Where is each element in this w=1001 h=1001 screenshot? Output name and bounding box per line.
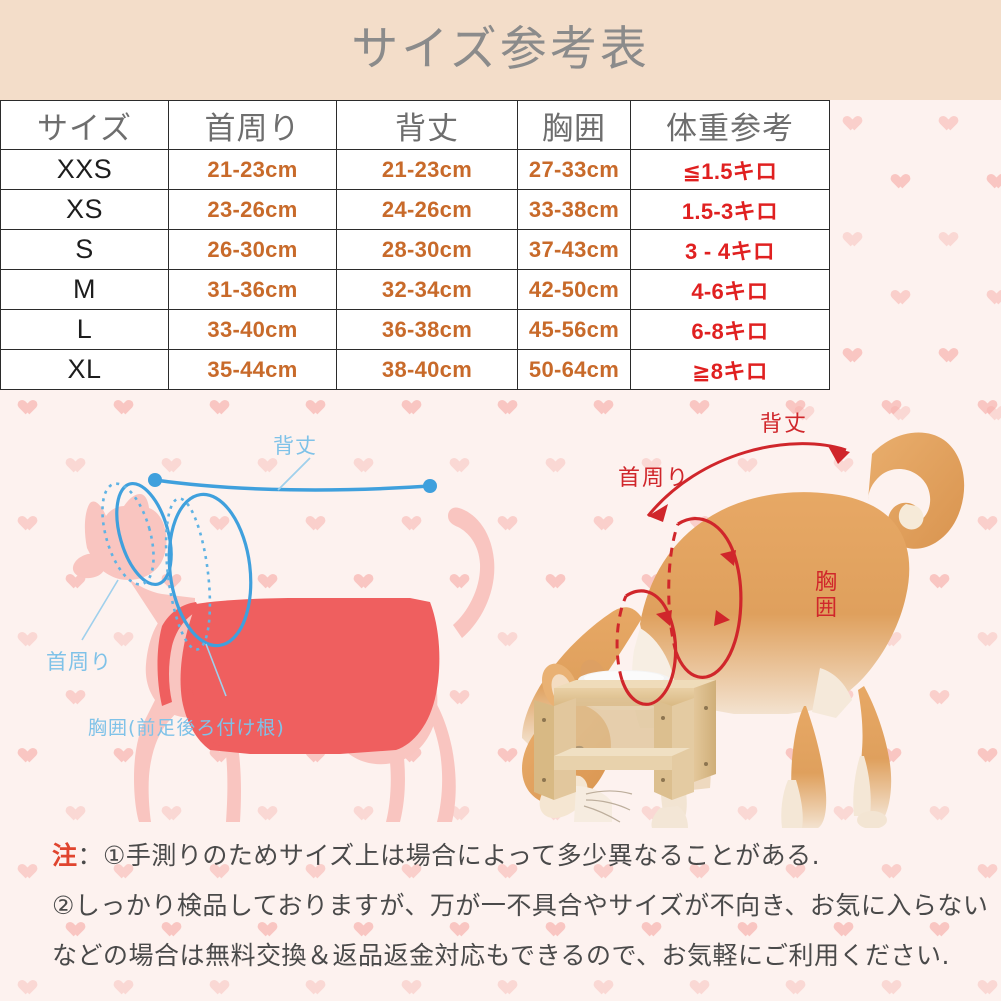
cell-neck: 33-40cm xyxy=(169,310,337,350)
cell-weight: 3 - 4キロ xyxy=(631,230,830,270)
cell-chest: 50-64cm xyxy=(518,350,631,390)
table-row: XXS21-23cm21-23cm27-33cm≦1.5キロ xyxy=(1,150,830,190)
dog-label-chest: 胸囲 xyxy=(815,570,839,622)
heart-icon xyxy=(887,168,904,183)
table-row: XL35-44cm38-40cm50-64cm≧8キロ xyxy=(1,350,830,390)
cat-measurement-diagram: 背丈 首周り 胸囲(前足後ろ付け根) xyxy=(10,388,540,828)
cell-neck: 35-44cm xyxy=(169,350,337,390)
page-title: サイズ参考表 xyxy=(0,22,1001,78)
cell-chest: 27-33cm xyxy=(518,150,631,190)
cell-weight: 6-8キロ xyxy=(631,310,830,350)
cell-size: S xyxy=(1,230,169,270)
table-row: L33-40cm36-38cm45-56cm6-8キロ xyxy=(1,310,830,350)
cell-back: 21-23cm xyxy=(337,150,518,190)
notes-section: 注：①手測りのためサイズ上は場合によって多少異なることがある. ②しっかり検品し… xyxy=(0,828,1001,1001)
cell-weight: ≧8キロ xyxy=(631,350,830,390)
cell-weight: 4-6キロ xyxy=(631,270,830,310)
cell-size: M xyxy=(1,270,169,310)
cat-back-start-dot xyxy=(148,473,162,487)
cell-neck: 26-30cm xyxy=(169,230,337,270)
cell-size: XS xyxy=(1,190,169,230)
cell-neck: 31-36cm xyxy=(169,270,337,310)
product-size-chart-page: サイズ参考表 サイズ 首周り 背丈 胸囲 体重参考 XXS21-23cm21-2… xyxy=(0,0,1001,1001)
cell-back: 24-26cm xyxy=(337,190,518,230)
title-band: サイズ参考表 xyxy=(0,0,1001,100)
heart-grid-right xyxy=(829,100,1001,388)
column-header-size: サイズ xyxy=(1,101,169,150)
cell-weight: ≦1.5キロ xyxy=(631,150,830,190)
table-row: M31-36cm32-34cm42-50cm4-6キロ xyxy=(1,270,830,310)
cell-chest: 42-50cm xyxy=(518,270,631,310)
table-row: S26-30cm28-30cm37-43cm3 - 4キロ xyxy=(1,230,830,270)
cell-neck: 21-23cm xyxy=(169,150,337,190)
cell-back: 28-30cm xyxy=(337,230,518,270)
cell-chest: 33-38cm xyxy=(518,190,631,230)
heart-icon xyxy=(935,110,952,125)
cell-chest: 45-56cm xyxy=(518,310,631,350)
size-table-container: サイズ 首周り 背丈 胸囲 体重参考 XXS21-23cm21-23cm27-3… xyxy=(0,100,829,388)
cat-back-length-annotation xyxy=(155,480,430,490)
cell-size: XL xyxy=(1,350,169,390)
cell-size: XXS xyxy=(1,150,169,190)
table-row: XS23-26cm24-26cm33-38cm1.5-3キロ xyxy=(1,190,830,230)
size-reference-table: サイズ 首周り 背丈 胸囲 体重参考 XXS21-23cm21-23cm27-3… xyxy=(0,100,830,390)
illustration-band: 背丈 首周り 胸囲(前足後ろ付け根) xyxy=(0,388,1001,828)
heart-icon xyxy=(983,168,1000,183)
note-mark: 注 xyxy=(52,841,78,870)
heart-pattern-background-right xyxy=(829,100,1001,388)
column-header-neck: 首周り xyxy=(169,101,337,150)
cell-chest: 37-43cm xyxy=(518,230,631,270)
column-header-weight: 体重参考 xyxy=(631,101,830,150)
dog-measurement-photo: 背丈 首周り 胸囲 xyxy=(520,388,1001,828)
note-line-3: などの場合は無料交換＆返品返金対応もできるので、お気軽にご利用ください. xyxy=(52,936,950,972)
heart-icon xyxy=(839,226,856,241)
cat-back-leader xyxy=(278,458,310,490)
cell-back: 38-40cm xyxy=(337,350,518,390)
cat-back-end-dot xyxy=(423,479,437,493)
dog-label-back-length: 背丈 xyxy=(760,406,808,438)
dog-photo-svg xyxy=(520,388,1001,828)
size-table-body: XXS21-23cm21-23cm27-33cm≦1.5キロXS23-26cm2… xyxy=(1,150,830,390)
table-header-row: サイズ 首周り 背丈 胸囲 体重参考 xyxy=(1,101,830,150)
note-line-1: 注：①手測りのためサイズ上は場合によって多少異なることがある. xyxy=(52,836,820,872)
dog-label-neck: 首周り xyxy=(618,460,690,492)
cell-neck: 23-26cm xyxy=(169,190,337,230)
cell-back: 36-38cm xyxy=(337,310,518,350)
cat-label-neck: 首周り xyxy=(46,646,112,676)
heart-icon xyxy=(887,284,904,299)
cell-weight: 1.5-3キロ xyxy=(631,190,830,230)
note-line-2: ②しっかり検品しておりますが、万が一不具合やサイズが不向き、お気に入らない xyxy=(52,886,988,922)
column-header-chest: 胸囲 xyxy=(518,101,631,150)
cell-back: 32-34cm xyxy=(337,270,518,310)
heart-icon xyxy=(983,284,1000,299)
heart-icon xyxy=(839,342,856,357)
cat-label-back-length: 背丈 xyxy=(273,430,317,460)
heart-icon xyxy=(839,110,856,125)
heart-icon xyxy=(935,226,952,241)
heart-icon xyxy=(935,342,952,357)
cat-label-chest: 胸囲(前足後ろ付け根) xyxy=(88,713,285,740)
column-header-back: 背丈 xyxy=(337,101,518,150)
note-line-1-text: ：①手測りのためサイズ上は場合によって多少異なることがある. xyxy=(78,841,821,870)
cell-size: L xyxy=(1,310,169,350)
